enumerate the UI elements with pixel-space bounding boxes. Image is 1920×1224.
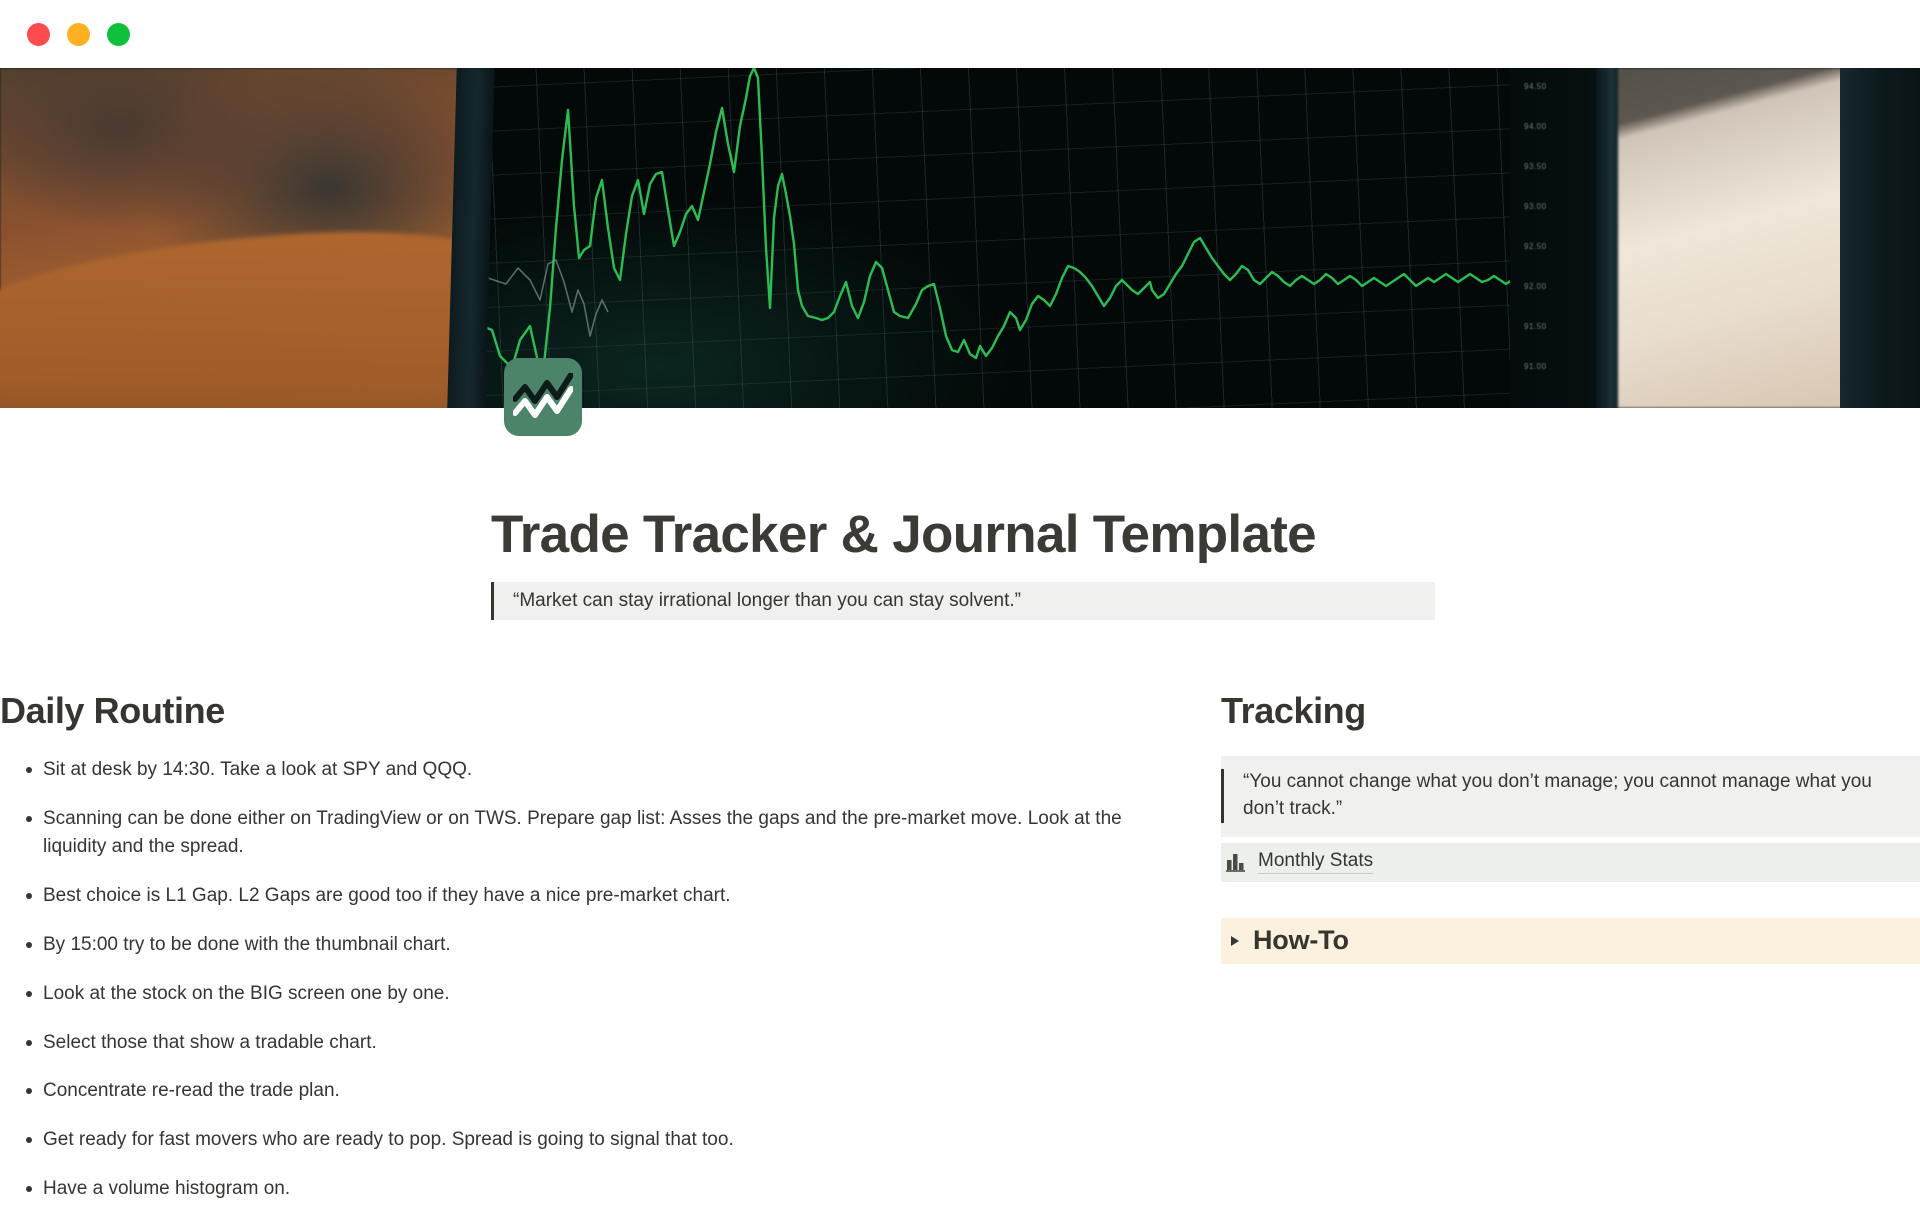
list-item[interactable]: Get ready for fast movers who are ready … (0, 1126, 1140, 1154)
daily-routine-list: Sit at desk by 14:30. Take a look at SPY… (0, 756, 1170, 1203)
list-item[interactable]: Have a volume histogram on. (0, 1175, 1140, 1203)
list-item[interactable]: Concentrate re-read the trade plan. (0, 1077, 1140, 1105)
traffic-lights (27, 23, 130, 46)
axis-tick: 94.50 (1524, 82, 1547, 91)
how-to-label: How-To (1253, 925, 1349, 956)
daily-routine-column: Daily Routine Sit at desk by 14:30. Take… (0, 690, 1170, 1224)
list-item[interactable]: Best choice is L1 Gap. L2 Gaps are good … (0, 882, 1140, 910)
page-icon[interactable] (504, 358, 582, 436)
monthly-stats-link[interactable]: Monthly Stats (1221, 843, 1920, 882)
maximize-window-button[interactable] (107, 23, 130, 46)
axis-tick: 93.00 (1524, 202, 1547, 211)
how-to-toggle[interactable]: How-To (1221, 918, 1920, 964)
axis-tick: 92.00 (1524, 282, 1547, 291)
tracking-quote-text: “You cannot change what you don’t manage… (1224, 769, 1920, 823)
tracking-heading[interactable]: Tracking (1221, 690, 1920, 732)
stock-chart-line (478, 68, 1598, 408)
chart-line-icon (513, 373, 573, 421)
bar-chart-icon (1226, 852, 1248, 872)
monitor-screen (478, 68, 1598, 408)
tracking-quote-block[interactable]: “You cannot change what you don’t manage… (1221, 756, 1920, 837)
monthly-stats-label: Monthly Stats (1258, 850, 1373, 874)
list-item[interactable]: Scanning can be done either on TradingVi… (0, 805, 1140, 861)
axis-tick: 92.50 (1524, 242, 1547, 251)
axis-tick: 94.00 (1524, 122, 1547, 131)
list-item[interactable]: Sit at desk by 14:30. Take a look at SPY… (0, 756, 1140, 784)
axis-tick: 91.50 (1524, 322, 1547, 331)
list-item[interactable]: Look at the stock on the BIG screen one … (0, 980, 1140, 1008)
window-title-bar (0, 0, 1920, 68)
page-title[interactable]: Trade Tracker & Journal Template (491, 504, 1316, 565)
tracking-column: Tracking “You cannot change what you don… (1221, 690, 1920, 964)
close-window-button[interactable] (27, 23, 50, 46)
page-quote-text: “Market can stay irrational longer than … (494, 590, 1021, 612)
page-quote-block[interactable]: “Market can stay irrational longer than … (491, 582, 1435, 620)
daily-routine-heading[interactable]: Daily Routine (0, 690, 1170, 732)
list-item[interactable]: By 15:00 try to be done with the thumbna… (0, 931, 1140, 959)
list-item[interactable]: Select those that show a tradable chart. (0, 1029, 1140, 1057)
cover-right-edge (1840, 68, 1920, 408)
chart-price-axis: 94.50 94.00 93.50 93.00 92.50 92.00 91.5… (1510, 68, 1602, 408)
cover-paper-sheet (1618, 68, 1846, 408)
axis-tick: 91.00 (1524, 362, 1547, 371)
axis-tick: 93.50 (1524, 162, 1547, 171)
triangle-right-icon[interactable] (1231, 936, 1239, 946)
minimize-window-button[interactable] (67, 23, 90, 46)
cover-person-blur (0, 68, 470, 408)
page-cover-image[interactable]: 94.50 94.00 93.50 93.00 92.50 92.00 91.5… (0, 68, 1920, 408)
